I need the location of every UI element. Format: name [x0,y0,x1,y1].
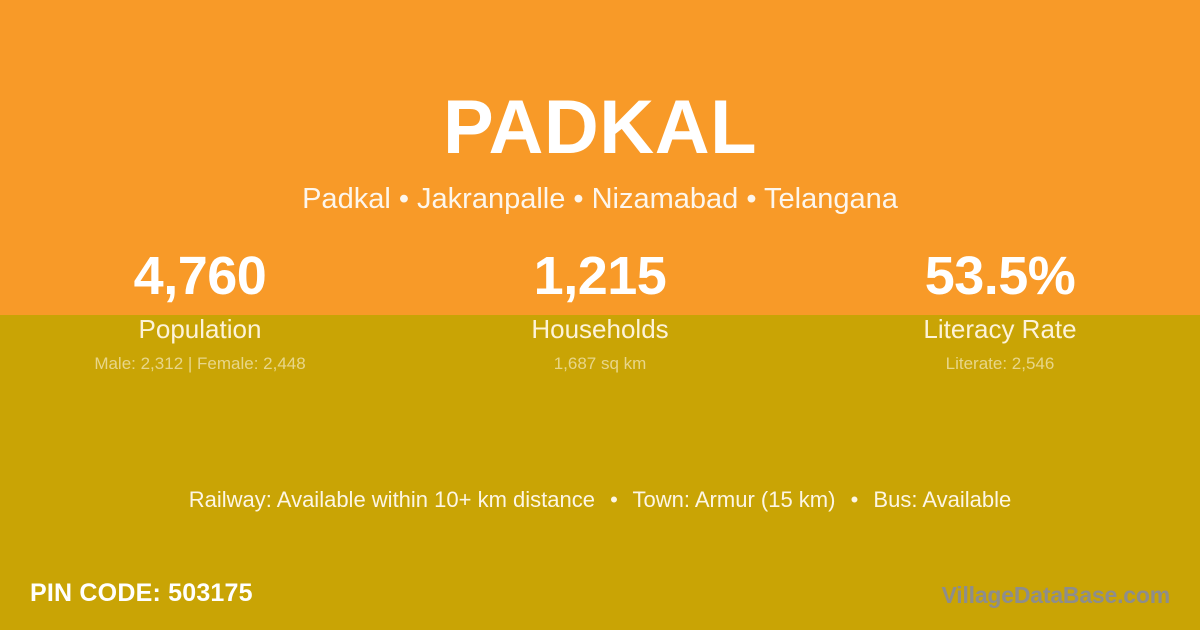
stat-households: 1,215 Households 1,687 sq km [400,245,800,375]
stat-sub-literacy-rate: Literate: 2,546 [800,353,1200,375]
infrastructure-separator-1: • [601,487,627,512]
infrastructure-town: Town: Armur (15 km) [633,487,836,512]
breadcrumb: Padkal • Jakranpalle • Nizamabad • Telan… [0,181,1200,217]
stat-literacy-rate: 53.5% Literacy Rate Literate: 2,546 [800,245,1200,375]
stats-row: 4,760 Population Male: 2,312 | Female: 2… [0,245,1200,375]
stat-label-population: Population [0,313,400,345]
village-info-card: PADKAL Padkal • Jakranpalle • Nizamabad … [0,0,1200,630]
stat-value-literacy-rate: 53.5% [800,245,1200,307]
stat-value-population: 4,760 [0,245,400,307]
infrastructure-line: Railway: Available within 10+ km distanc… [0,486,1200,514]
card-footer: PIN CODE: 503175 VillageDataBase.com [0,570,1200,630]
stat-label-literacy-rate: Literacy Rate [800,313,1200,345]
brand-watermark: VillageDataBase.com [942,580,1170,610]
page-title: PADKAL [0,84,1200,172]
stat-label-households: Households [400,313,800,345]
stat-value-households: 1,215 [400,245,800,307]
stat-population: 4,760 Population Male: 2,312 | Female: 2… [0,245,400,375]
pin-code-label: PIN CODE: 503175 [30,577,253,609]
stat-sub-households: 1,687 sq km [400,353,800,375]
stat-sub-population: Male: 2,312 | Female: 2,448 [0,353,400,375]
infrastructure-separator-2: • [842,487,868,512]
infrastructure-bus: Bus: Available [873,487,1011,512]
infrastructure-railway: Railway: Available within 10+ km distanc… [189,487,595,512]
